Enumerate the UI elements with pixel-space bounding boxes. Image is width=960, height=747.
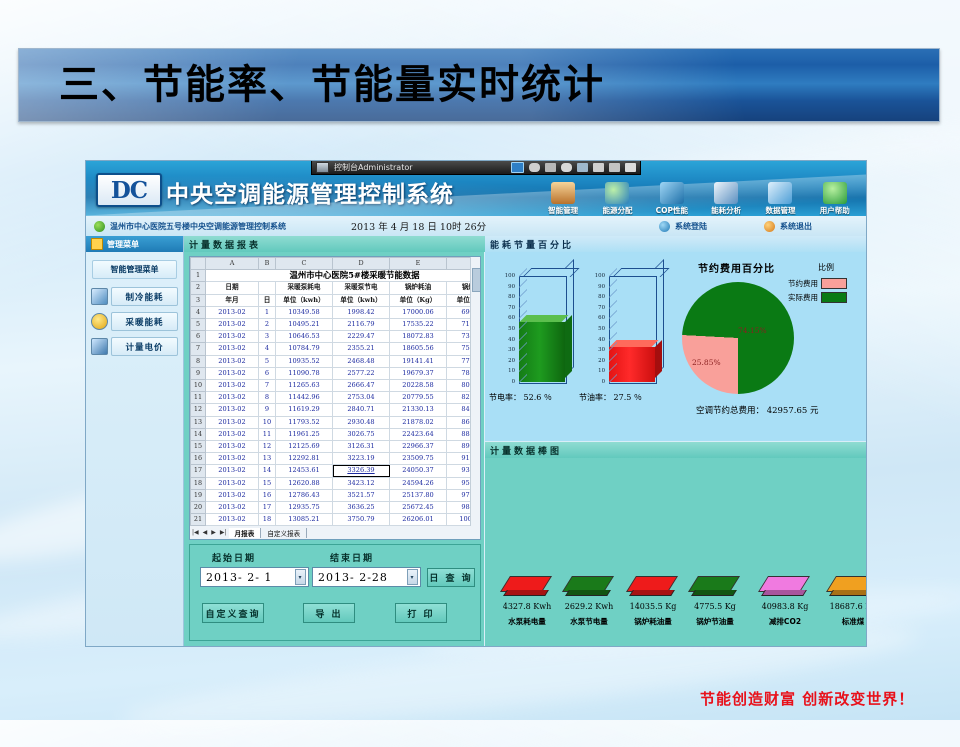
- y-axis-tick: 50: [598, 326, 605, 332]
- row-header[interactable]: 21: [191, 514, 206, 526]
- first-sheet-button[interactable]: |◀: [190, 529, 201, 536]
- row-header[interactable]: 8: [191, 355, 206, 367]
- row-header[interactable]: 13: [191, 416, 206, 428]
- table-cell[interactable]: 2013-02: [206, 465, 259, 477]
- metering-bar-body: 4327.8 Kwh水泵耗电量2629.2 Kwh水泵节电量14035.5 Kg…: [485, 458, 866, 646]
- bar-category-label: 标准煤: [819, 616, 867, 627]
- bar-value-label: 14035.5 Kg: [619, 602, 687, 611]
- data-grid[interactable]: ABCDEF 1温州市中心医院5#楼采暖节能数据2日期采暖泵耗电采暖泵节电锅炉耗…: [189, 256, 481, 528]
- leaf-icon: [94, 221, 105, 232]
- row-header[interactable]: 5: [191, 319, 206, 331]
- table-cell[interactable]: 3326.39: [333, 465, 390, 477]
- table-cell[interactable]: 10: [259, 416, 276, 428]
- sheet-tab-monthly[interactable]: 月报表: [229, 528, 262, 538]
- pen-icon: [660, 182, 684, 204]
- login-icon: [659, 221, 670, 232]
- table-cell[interactable]: 10495.21: [276, 319, 333, 331]
- row-header[interactable]: 2: [191, 282, 206, 294]
- sidebar-item-cooling-label: 制冷能耗: [111, 287, 178, 306]
- bar-unit-2: ％: [634, 393, 642, 402]
- table-cell[interactable]: 12: [259, 441, 276, 453]
- window-icon[interactable]: [609, 163, 620, 172]
- row-header[interactable]: 4: [191, 306, 206, 318]
- table-cell[interactable]: 22423.64: [390, 428, 447, 440]
- table-row[interactable]: 72013-02410784.792355.2118605.567531.62: [191, 343, 482, 355]
- y-axis-tick: 70: [598, 305, 605, 311]
- house-icon: [551, 182, 575, 204]
- table-cell[interactable]: 21330.13: [390, 404, 447, 416]
- table-row[interactable]: 212013-021813085.213750.7926206.0110065.…: [191, 514, 482, 526]
- bar-category-label: 减排CO2: [751, 616, 819, 627]
- bar-side-face: [691, 590, 737, 596]
- print-button[interactable]: 打 印: [395, 603, 447, 623]
- table-cell[interactable]: 11265.63: [276, 380, 333, 392]
- table-cell[interactable]: 12620.88: [276, 477, 333, 489]
- table-cell[interactable]: 25672.45: [390, 502, 447, 514]
- table-cell[interactable]: 17: [259, 502, 276, 514]
- sheet-title-cell[interactable]: 温州市中心医院5#楼采暖节能数据: [206, 270, 482, 282]
- sidebar-item-smart-menu[interactable]: 智能管理菜单: [92, 260, 177, 279]
- table-cell[interactable]: 2468.48: [333, 355, 390, 367]
- bar-unit-1: ％: [544, 393, 552, 402]
- table-cell[interactable]: 2013-02: [206, 367, 259, 379]
- table-cell[interactable]: 3: [259, 331, 276, 343]
- y-axis-tick: 70: [508, 305, 515, 311]
- cooling-icon: [91, 288, 108, 305]
- table-cell[interactable]: 11961.25: [276, 428, 333, 440]
- table-cell[interactable]: 12125.69: [276, 441, 333, 453]
- start-date-value: 2013- 2- 1: [206, 571, 272, 584]
- table-row[interactable]: 102013-02711265.632666.4720228.588072.62: [191, 380, 482, 392]
- table-cell[interactable]: 25137.80: [390, 489, 447, 501]
- last-sheet-button[interactable]: ▶|: [218, 529, 229, 536]
- y-axis-tick: 100: [505, 273, 515, 279]
- row-header[interactable]: 11: [191, 392, 206, 404]
- table-row[interactable]: 3年月日单位（kwh）单位（kwh）单位（Kg）单位（Kg）: [191, 294, 482, 306]
- bar-side-face: [629, 590, 675, 596]
- table-cell[interactable]: 2013-02: [206, 392, 259, 404]
- table-cell[interactable]: 10646.53: [276, 331, 333, 343]
- table-row[interactable]: 132013-021011793.522930.4821878.028622.4…: [191, 416, 482, 428]
- sidebar-item-price-label: 计量电价: [111, 337, 178, 356]
- menu-icon: [91, 238, 103, 250]
- table-cell[interactable]: 18: [259, 514, 276, 526]
- bar-chart-oil-saving: 0102030405060708090100 节油率： 27.5 ％: [585, 264, 680, 404]
- table-row[interactable]: 182013-021512620.883423.1224594.269527.8…: [191, 477, 482, 489]
- header-cell[interactable]: [259, 282, 276, 294]
- header-cell[interactable]: 日期: [206, 282, 259, 294]
- bar-category-label: 锅炉节油量: [681, 616, 749, 627]
- y-axis-tick: 20: [598, 358, 605, 364]
- legend-item-saving: 节约费用: [788, 278, 847, 289]
- metering-bar-4: 4775.5 Kg锅炉节油量: [687, 576, 743, 636]
- end-date-value: 2013- 2-28: [318, 571, 388, 584]
- column-header-A[interactable]: A: [206, 258, 259, 270]
- query-panel: 起始日期 结束日期 2013- 2- 1 ▾ 2013- 2-28 ▾ 日 查 …: [189, 544, 481, 641]
- table-cell[interactable]: 3423.12: [333, 477, 390, 489]
- start-date-input[interactable]: 2013- 2- 1 ▾: [200, 567, 309, 587]
- mouse-icon[interactable]: [529, 163, 540, 172]
- system-login-label: 系统登陆: [675, 221, 707, 232]
- bar-category-label: 锅炉耗油量: [619, 616, 687, 627]
- legend-label-actual: 实际费用: [788, 292, 818, 303]
- table-cell[interactable]: 12935.75: [276, 502, 333, 514]
- row-header[interactable]: 6: [191, 331, 206, 343]
- custom-query-button[interactable]: 自定义查询: [202, 603, 264, 623]
- row-header[interactable]: 15: [191, 441, 206, 453]
- percentage-panel: 能耗节量百分比 0102030405060708090100 节电率： 52.6…: [485, 236, 866, 441]
- pie-chart-graphic: [682, 282, 794, 394]
- table-cell[interactable]: 12453.61: [276, 465, 333, 477]
- end-date-label: 结束日期: [330, 551, 374, 564]
- dc-logo: DC: [96, 173, 162, 207]
- table-cell[interactable]: 2930.48: [333, 416, 390, 428]
- table-cell[interactable]: 2013-02: [206, 331, 259, 343]
- bar-caption-oil: 节油率： 27.5 ％: [579, 392, 642, 403]
- grid-vertical-scrollbar[interactable]: [470, 257, 480, 527]
- table-row[interactable]: 192013-021612786.433521.5725137.809709.0…: [191, 489, 482, 501]
- chevron-down-icon[interactable]: ▾: [295, 569, 306, 585]
- table-body: 1温州市中心医院5#楼采暖节能数据2日期采暖泵耗电采暖泵节电锅炉耗油锅炉节油3年…: [191, 270, 482, 528]
- bar-category-label: 水泵耗电量: [493, 616, 561, 627]
- metering-bar-1: 4327.8 Kwh水泵耗电量: [499, 576, 555, 636]
- table-cell[interactable]: 3126.31: [333, 441, 390, 453]
- table-cell[interactable]: 12292.81: [276, 453, 333, 465]
- row-header[interactable]: 20: [191, 502, 206, 514]
- sidebar: 管理菜单 智能管理菜单 制冷能耗 采暖能耗 计量电价: [86, 236, 184, 646]
- table-cell[interactable]: 2013-02: [206, 355, 259, 367]
- row-header[interactable]: 7: [191, 343, 206, 355]
- row-header[interactable]: 12: [191, 404, 206, 416]
- bar-caption-1-label: 节电率：: [489, 393, 521, 402]
- sidebar-header: 管理菜单: [86, 236, 183, 252]
- table-cell[interactable]: 10935.52: [276, 355, 333, 367]
- table-cell[interactable]: 2013-02: [206, 441, 259, 453]
- table-cell[interactable]: 2013-02: [206, 404, 259, 416]
- metering-bar-panel: 计量数据棒图 4327.8 Kwh水泵耗电量2629.2 Kwh水泵节电量140…: [485, 442, 866, 646]
- report-table: ABCDEF 1温州市中心医院5#楼采暖节能数据2日期采暖泵耗电采暖泵节电锅炉耗…: [190, 257, 481, 528]
- bar-caption-2-label: 节油率：: [579, 393, 611, 402]
- console-label: 控制台Administrator: [334, 162, 413, 173]
- table-cell[interactable]: 26206.01: [390, 514, 447, 526]
- table-cell[interactable]: 18072.83: [390, 331, 447, 343]
- toolbar-item-5[interactable]: 数据管理: [753, 173, 807, 216]
- table-cell[interactable]: 11442.96: [276, 392, 333, 404]
- legend-swatch-saving: [821, 278, 847, 289]
- day-query-button[interactable]: 日 查 询: [427, 568, 475, 587]
- folder-icon[interactable]: [545, 163, 556, 172]
- column-header-C[interactable]: C: [276, 258, 333, 270]
- scrollbar-thumb[interactable]: [472, 268, 481, 292]
- screen-icon[interactable]: [511, 162, 524, 173]
- system-logout-button[interactable]: 系统退出: [756, 221, 812, 232]
- table-cell[interactable]: 7: [259, 380, 276, 392]
- toolbar-item-1[interactable]: 智能管理: [536, 173, 590, 216]
- table-cell[interactable]: 2840.71: [333, 404, 390, 416]
- header-cell[interactable]: 单位（kwh）: [276, 294, 333, 306]
- y-axis-tick: 30: [508, 347, 515, 353]
- toolbar-item-label: 用户帮助: [820, 205, 850, 216]
- application-window: DC 中央空调能源管理控制系统 智能管理能源分配COP性能能耗分析数据管理用户帮…: [85, 160, 867, 647]
- table-cell[interactable]: 15: [259, 477, 276, 489]
- table-row[interactable]: 142013-021111961.253026.7522423.648804.3…: [191, 428, 482, 440]
- header-cell[interactable]: 单位（Kg）: [390, 294, 447, 306]
- bar-chart-y-axis: 0102030405060708090100: [585, 264, 607, 382]
- y-axis-tick: 60: [508, 315, 515, 321]
- table-row[interactable]: 172013-021412453.613326.3924050.379346.5…: [191, 465, 482, 477]
- hand-icon[interactable]: [593, 163, 604, 172]
- row-header[interactable]: 18: [191, 477, 206, 489]
- bar-value-label: 4775.5 Kg: [681, 602, 749, 611]
- y-axis-tick: 80: [508, 294, 515, 300]
- row-header[interactable]: 10: [191, 380, 206, 392]
- table-cell[interactable]: 2229.47: [333, 331, 390, 343]
- table-row[interactable]: 1温州市中心医院5#楼采暖节能数据: [191, 270, 482, 282]
- table-cell[interactable]: 2013-02: [206, 416, 259, 428]
- system-datetime: 2013 年 4 月 18 日 10时 26分: [351, 219, 486, 233]
- column-header-B[interactable]: B: [259, 258, 276, 270]
- sheet-tab-bar[interactable]: |◀ ◀ ▶ ▶| 月报表 自定义报表: [189, 526, 481, 540]
- table-cell[interactable]: 1998.42: [333, 306, 390, 318]
- chevron-down-icon[interactable]: ▾: [407, 569, 418, 585]
- y-axis-tick: 80: [598, 294, 605, 300]
- bar-side-face: [829, 590, 867, 596]
- header-cell[interactable]: 采暖泵节电: [333, 282, 390, 294]
- table-cell[interactable]: 2013-02: [206, 428, 259, 440]
- table-row[interactable]: 82013-02510935.522468.4819141.417710.23: [191, 355, 482, 367]
- speaker-icon[interactable]: [625, 163, 636, 172]
- bar-value-label: 40983.8 Kg: [751, 602, 819, 611]
- bar-side-face: [655, 340, 662, 378]
- table-header-row: ABCDEF: [191, 258, 482, 270]
- table-cell[interactable]: 2: [259, 319, 276, 331]
- table-cell[interactable]: 18605.56: [390, 343, 447, 355]
- column-header-D[interactable]: D: [333, 258, 390, 270]
- row-header[interactable]: 17: [191, 465, 206, 477]
- bar-category-label: 水泵节电量: [555, 616, 623, 627]
- pie-label-saving: 25.85%: [692, 358, 721, 367]
- end-date-input[interactable]: 2013- 2-28 ▾: [312, 567, 421, 587]
- table-cell[interactable]: 21878.02: [390, 416, 447, 428]
- y-axis-tick: 20: [508, 358, 515, 364]
- bar-side-face: [761, 590, 807, 596]
- monitor-icon: [316, 162, 329, 173]
- table-cell[interactable]: 10349.58: [276, 306, 333, 318]
- header-cell[interactable]: 日: [259, 294, 276, 306]
- user-icon: [823, 182, 847, 204]
- y-axis-tick: 90: [508, 284, 515, 290]
- table-cell[interactable]: 1: [259, 306, 276, 318]
- sidebar-item-cooling[interactable]: 制冷能耗: [91, 287, 178, 306]
- table-row[interactable]: 122013-02911619.292840.7121330.138439.81: [191, 404, 482, 416]
- table-row[interactable]: 112013-02811442.962753.0420779.558256.28: [191, 392, 482, 404]
- table-cell[interactable]: 20228.58: [390, 380, 447, 392]
- table-cell[interactable]: 11619.29: [276, 404, 333, 416]
- prev-sheet-button[interactable]: ◀: [201, 529, 210, 536]
- table-cell[interactable]: 19141.41: [390, 355, 447, 367]
- toolbar-item-2[interactable]: 能源分配: [590, 173, 644, 216]
- move-icon[interactable]: [577, 163, 588, 172]
- pie-chart: 节约费用百分比 比例 节约费用 实际费用 74.15% 25.85% 空调节约总…: [670, 254, 866, 441]
- y-axis-tick: 10: [508, 368, 515, 374]
- bar-caption-energy: 节电率： 52.6 ％: [489, 392, 552, 403]
- slide-title-banner: 三、节能率、节能量实时统计: [18, 48, 940, 122]
- y-axis-tick: 0: [602, 379, 605, 385]
- table-cell[interactable]: 3521.57: [333, 489, 390, 501]
- table-cell[interactable]: 2013-02: [206, 477, 259, 489]
- table-row[interactable]: 42013-02110349.581998.4217000.066996.63: [191, 306, 482, 318]
- table-row[interactable]: 152013-021212125.693126.3122966.378985.2…: [191, 441, 482, 453]
- header-cell[interactable]: 锅炉耗油: [390, 282, 447, 294]
- table-cell[interactable]: 4: [259, 343, 276, 355]
- toolbar-item-label: 数据管理: [765, 205, 795, 216]
- row-header[interactable]: 3: [191, 294, 206, 306]
- start-date-label: 起始日期: [212, 551, 256, 564]
- table-cell[interactable]: 2753.04: [333, 392, 390, 404]
- table-cell[interactable]: 24594.26: [390, 477, 447, 489]
- header-cell[interactable]: 采暖泵耗电: [276, 282, 333, 294]
- table-cell[interactable]: 16: [259, 489, 276, 501]
- table-row[interactable]: 62013-02310646.532229.4718072.837354.04: [191, 331, 482, 343]
- table-cell[interactable]: 2666.47: [333, 380, 390, 392]
- toolbar-item-3[interactable]: COP性能: [645, 173, 699, 216]
- sidebar-header-label: 管理菜单: [107, 239, 139, 250]
- table-cell[interactable]: 2013-02: [206, 489, 259, 501]
- table-cell[interactable]: 3636.25: [333, 502, 390, 514]
- table-cell[interactable]: 5: [259, 355, 276, 367]
- page-title: 三、节能率、节能量实时统计: [19, 65, 605, 105]
- pie-chart-title: 节约费用百分比: [698, 260, 775, 275]
- column-header-corner[interactable]: [191, 258, 206, 270]
- row-header[interactable]: 19: [191, 489, 206, 501]
- y-axis-tick: 50: [508, 326, 515, 332]
- percentage-panel-title: 能耗节量百分比: [485, 236, 867, 252]
- logout-icon: [764, 221, 775, 232]
- y-axis-tick: 90: [598, 284, 605, 290]
- toolbar-item-4[interactable]: 能耗分析: [699, 173, 753, 216]
- export-button[interactable]: 导 出: [303, 603, 355, 623]
- table-cell[interactable]: 14: [259, 465, 276, 477]
- table-cell[interactable]: 17535.22: [390, 319, 447, 331]
- y-axis-tick: 40: [508, 337, 515, 343]
- table-cell[interactable]: 2013-02: [206, 514, 259, 526]
- sidebar-item-price[interactable]: 计量电价: [91, 337, 178, 356]
- table-cell[interactable]: 2013-02: [206, 319, 259, 331]
- header-cell[interactable]: 单位（kwh）: [333, 294, 390, 306]
- sheet-tab-custom[interactable]: 自定义报表: [261, 528, 307, 538]
- bar-value-label: 2629.2 Kwh: [555, 602, 623, 611]
- row-header[interactable]: 16: [191, 453, 206, 465]
- table-cell[interactable]: 6: [259, 367, 276, 379]
- toolbar-item-label: COP性能: [656, 205, 688, 216]
- toolbar-item-6[interactable]: 用户帮助: [808, 173, 862, 216]
- bar-side-face: [503, 590, 549, 596]
- sidebar-item-heating-label: 采暖能耗: [111, 312, 178, 331]
- table-cell[interactable]: 8: [259, 392, 276, 404]
- table-cell[interactable]: 2013-02: [206, 380, 259, 392]
- book-icon: [714, 182, 738, 204]
- table-cell[interactable]: 10784.79: [276, 343, 333, 355]
- table-cell[interactable]: 17000.06: [390, 306, 447, 318]
- bar-chart-energy-saving: 0102030405060708090100 节电率： 52.6 ％: [495, 264, 590, 404]
- table-cell[interactable]: 22966.37: [390, 441, 447, 453]
- table-cell[interactable]: 2577.22: [333, 367, 390, 379]
- percentage-panel-body: 0102030405060708090100 节电率： 52.6 ％ 01020…: [485, 252, 866, 441]
- toolbar-item-label: 能耗分析: [711, 205, 741, 216]
- table-cell[interactable]: 11090.78: [276, 367, 333, 379]
- y-axis-tick: 60: [598, 315, 605, 321]
- row-header[interactable]: 9: [191, 367, 206, 379]
- table-cell[interactable]: 13: [259, 453, 276, 465]
- table-cell[interactable]: 9: [259, 404, 276, 416]
- pie-label-actual: 74.15%: [738, 326, 767, 335]
- bar-value-1: 52.6: [524, 393, 542, 402]
- metering-bar-5: 40983.8 Kg减排CO2: [757, 576, 813, 636]
- bar-front-face: [519, 322, 565, 382]
- toolbar-item-label: 能源分配: [602, 205, 632, 216]
- table-cell[interactable]: 19679.37: [390, 367, 447, 379]
- table-cell[interactable]: 20779.55: [390, 392, 447, 404]
- table-cell[interactable]: 2013-02: [206, 502, 259, 514]
- column-header-E[interactable]: E: [390, 258, 447, 270]
- bar-value-label: 4327.8 Kwh: [493, 602, 561, 611]
- table-row[interactable]: 162013-021312292.813223.1923509.759166.3…: [191, 453, 482, 465]
- console-titlebar: 控制台Administrator: [311, 161, 641, 175]
- sub-header-bar: 温州市中心医院五号楼中央空调能源管理控制系统 2013 年 4 月 18 日 1…: [86, 216, 866, 237]
- report-panel: 计量数据报表 ABCDEF 1温州市中心医院5#楼采暖节能数据2日期采暖泵耗电采…: [184, 236, 484, 646]
- table-cell[interactable]: 2013-02: [206, 453, 259, 465]
- bar-side-face: [565, 315, 572, 378]
- table-cell[interactable]: 12786.43: [276, 489, 333, 501]
- system-login-button[interactable]: 系统登陆: [651, 221, 707, 232]
- table-cell[interactable]: 13085.21: [276, 514, 333, 526]
- table-cell[interactable]: 11793.52: [276, 416, 333, 428]
- pointer-icon[interactable]: [561, 163, 572, 172]
- header-cell[interactable]: 年月: [206, 294, 259, 306]
- table-row[interactable]: 52013-02210495.212116.7917535.227174.84: [191, 319, 482, 331]
- y-axis-tick: 0: [512, 379, 515, 385]
- y-axis-tick: 100: [595, 273, 605, 279]
- y-axis-tick: 10: [598, 368, 605, 374]
- sidebar-item-heating[interactable]: 采暖能耗: [91, 312, 178, 331]
- next-sheet-button[interactable]: ▶: [209, 529, 218, 536]
- table-cell[interactable]: 2355.21: [333, 343, 390, 355]
- pie-total-cost: 空调节约总费用： 42957.65 元: [696, 404, 818, 416]
- row-header[interactable]: 1: [191, 270, 206, 282]
- heating-icon: [91, 313, 108, 330]
- site-name: 温州市中心医院五号楼中央空调能源管理控制系统: [110, 221, 286, 232]
- table-cell[interactable]: 3750.79: [333, 514, 390, 526]
- table-row[interactable]: 92013-02611090.782577.2219679.377889.55: [191, 367, 482, 379]
- table-cell[interactable]: 2013-02: [206, 306, 259, 318]
- table-cell[interactable]: 3223.19: [333, 453, 390, 465]
- report-panel-title: 计量数据报表: [184, 236, 489, 252]
- row-header[interactable]: 14: [191, 428, 206, 440]
- table-cell[interactable]: 2116.79: [333, 319, 390, 331]
- table-cell[interactable]: 23509.75: [390, 453, 447, 465]
- table-cell[interactable]: 3026.75: [333, 428, 390, 440]
- table-cell[interactable]: 2013-02: [206, 343, 259, 355]
- bar-value-2: 27.5: [614, 393, 632, 402]
- application-title: 中央空调能源管理控制系统: [166, 175, 454, 209]
- table-row[interactable]: 2日期采暖泵耗电采暖泵节电锅炉耗油锅炉节油: [191, 282, 482, 294]
- pie-legend-title: 比例: [818, 262, 834, 273]
- table-cell[interactable]: 24050.37: [390, 465, 447, 477]
- metering-bar-panel-title: 计量数据棒图: [485, 442, 867, 458]
- bar-value-label: 18687.6 Kg: [819, 602, 867, 611]
- table-cell[interactable]: 11: [259, 428, 276, 440]
- table-row[interactable]: 202013-021712935.753636.2525672.459887.2…: [191, 502, 482, 514]
